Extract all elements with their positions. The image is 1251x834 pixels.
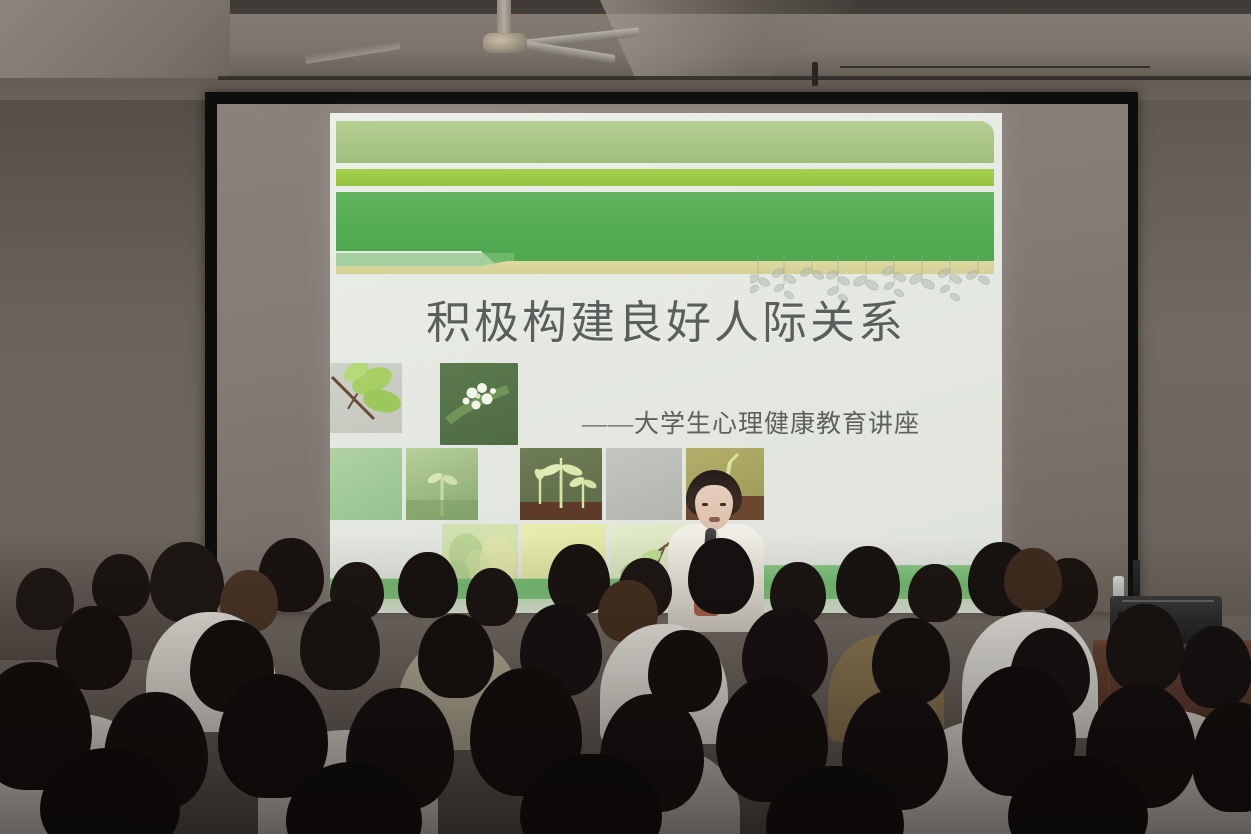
slide-title: 积极构建良好人际关系 bbox=[330, 299, 1002, 348]
collage-photo-twin-seedlings bbox=[520, 448, 602, 520]
slide-band-lime bbox=[336, 169, 994, 186]
cable-drop bbox=[812, 62, 818, 86]
presenter-eye bbox=[720, 503, 726, 506]
presenter-mouth bbox=[709, 517, 720, 522]
beam-edge-shadow bbox=[218, 76, 1251, 80]
lecture-hall-photo: 积极构建良好人际关系 ——大学生心理健康教育讲座 bbox=[0, 0, 1251, 834]
ceiling-beam-left bbox=[0, 0, 230, 78]
presenter-belt bbox=[694, 598, 720, 616]
collage-photo-green-plain bbox=[330, 448, 402, 520]
ceiling-fan-icon bbox=[483, 33, 527, 53]
presenter bbox=[650, 470, 780, 630]
microphone-stand bbox=[1133, 560, 1140, 600]
amplifier-detail bbox=[1122, 600, 1214, 602]
presenter-eye bbox=[702, 503, 708, 506]
floor-strip bbox=[1093, 798, 1251, 834]
right-wall bbox=[1138, 96, 1251, 616]
slide-band-green-step bbox=[336, 253, 514, 267]
collage-photo-leaf-branch bbox=[330, 363, 402, 433]
amplifier-slot bbox=[1118, 612, 1154, 634]
left-wall bbox=[0, 100, 210, 660]
collage-photo-moss-sprout bbox=[406, 448, 478, 520]
ceiling-fan-rod bbox=[497, 0, 511, 36]
collage-photo-white-flower bbox=[440, 363, 518, 445]
slide-band-sage bbox=[336, 121, 994, 163]
ceiling-cable bbox=[840, 66, 1150, 76]
presenter-hand bbox=[702, 574, 720, 596]
